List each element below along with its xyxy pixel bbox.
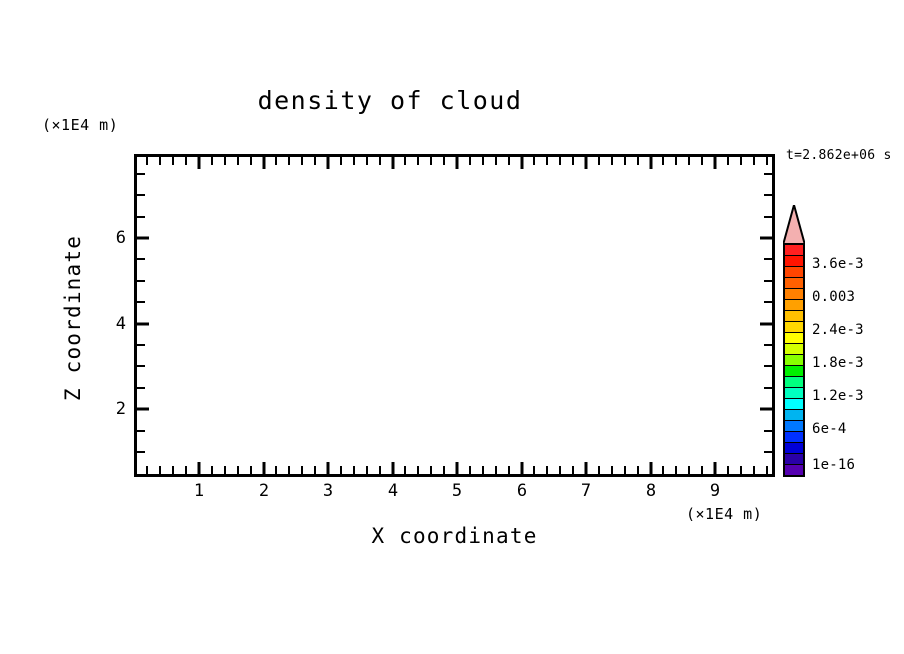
y-tick-label-4: 4 (86, 314, 126, 334)
colorbar-extend-arrow-icon (783, 205, 805, 245)
colorbar-band-2 (785, 267, 803, 278)
contour-figure: density of cloud (×1E4 m) t=2.862e+06 s (0, 0, 904, 654)
timestamp-annotation: t=2.862e+06 s (786, 148, 892, 163)
colorbar-band-15 (785, 410, 803, 421)
colorbar-band-7 (785, 322, 803, 333)
x-tick-label-1: 1 (179, 481, 219, 501)
y-tick-label-6: 6 (86, 228, 126, 248)
colorbar-band-19 (785, 454, 803, 465)
colorbar-band-0 (785, 245, 803, 256)
x-tick-label-9: 9 (695, 481, 735, 501)
x-tick-label-8: 8 (631, 481, 671, 501)
colorbar-label-3: 1.8e-3 (812, 355, 864, 371)
colorbar-label-4: 1.2e-3 (812, 388, 864, 404)
x-tick-label-3: 3 (308, 481, 348, 501)
colorbar-band-11 (785, 366, 803, 377)
colorbar-band-8 (785, 333, 803, 344)
colorbar-band-6 (785, 311, 803, 322)
colorbar-band-17 (785, 432, 803, 443)
x-tick-label-4: 4 (373, 481, 413, 501)
page-title: density of cloud (0, 86, 780, 115)
y-axis-title: Z coordinate (61, 228, 85, 408)
colorbar-band-4 (785, 289, 803, 300)
z-axis-unit-label: (×1E4 m) (42, 116, 118, 134)
colorbar-band-20 (785, 465, 803, 475)
colorbar-label-1: 0.003 (812, 289, 855, 305)
colorbar-band-9 (785, 344, 803, 355)
colorbar-label-6: 1e-16 (812, 457, 855, 473)
y-tick-label-2: 2 (86, 399, 126, 419)
colorbar-band-16 (785, 421, 803, 432)
colorbar-band-5 (785, 300, 803, 311)
colorbar[interactable] (783, 243, 805, 477)
colorbar-band-12 (785, 377, 803, 388)
colorbar-label-2: 2.4e-3 (812, 322, 864, 338)
colorbar-band-14 (785, 399, 803, 410)
colorbar-band-1 (785, 256, 803, 267)
x-tick-label-7: 7 (566, 481, 606, 501)
colorbar-band-13 (785, 388, 803, 399)
x-tick-label-2: 2 (244, 481, 284, 501)
x-axis-unit-label: (×1E4 m) (686, 505, 762, 523)
colorbar-label-0: 3.6e-3 (812, 256, 864, 272)
plot-frame (134, 154, 775, 477)
x-tick-label-6: 6 (502, 481, 542, 501)
x-tick-label-5: 5 (437, 481, 477, 501)
colorbar-band-18 (785, 443, 803, 454)
colorbar-label-5: 6e-4 (812, 421, 847, 437)
colorbar-band-3 (785, 278, 803, 289)
colorbar-band-10 (785, 355, 803, 366)
x-axis-title: X coordinate (134, 524, 775, 548)
